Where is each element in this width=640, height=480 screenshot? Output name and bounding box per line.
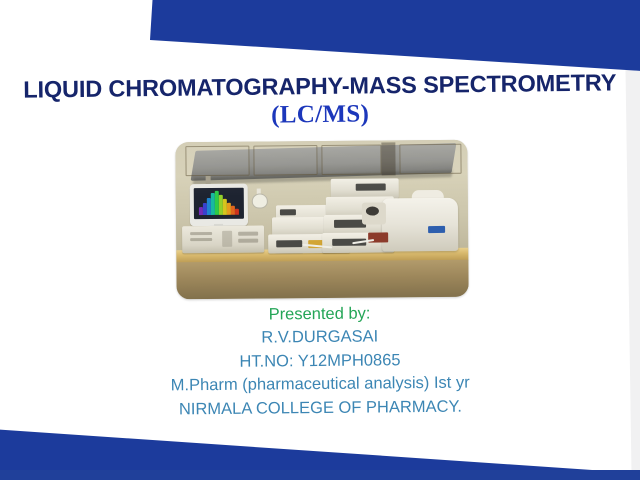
desktop-computer (182, 226, 264, 254)
bench-gap-shadow (381, 142, 395, 175)
photo-inner (175, 140, 468, 300)
mass-spectrometer (382, 198, 458, 252)
hplc-display (280, 209, 296, 215)
bench-drawer (321, 144, 381, 175)
bench-drawer (253, 145, 317, 176)
hplc-stack-top-display (356, 183, 386, 190)
bench-drawer (399, 144, 461, 175)
lcms-instrument-photo (175, 140, 468, 300)
monitor-screen (194, 188, 244, 219)
lab-bench-front (176, 260, 468, 300)
ms-brand-badge (428, 226, 445, 233)
ms-source-port (366, 207, 379, 216)
hplc-front-panel (276, 240, 302, 247)
slide-title: LIQUID CHROMATOGRAPHY-MASS SPECTROMETRY … (0, 70, 640, 133)
bench-drawer (185, 146, 249, 177)
solvent-bottle (252, 193, 268, 208)
presenter-details: Presented by: R.V.DURGASAI HT.NO: Y12MPH… (0, 300, 640, 423)
bottom-edge-strip (0, 470, 640, 480)
computer-monitor (190, 184, 248, 227)
slide-root: LIQUID CHROMATOGRAPHY-MASS SPECTROMETRY … (0, 0, 640, 480)
